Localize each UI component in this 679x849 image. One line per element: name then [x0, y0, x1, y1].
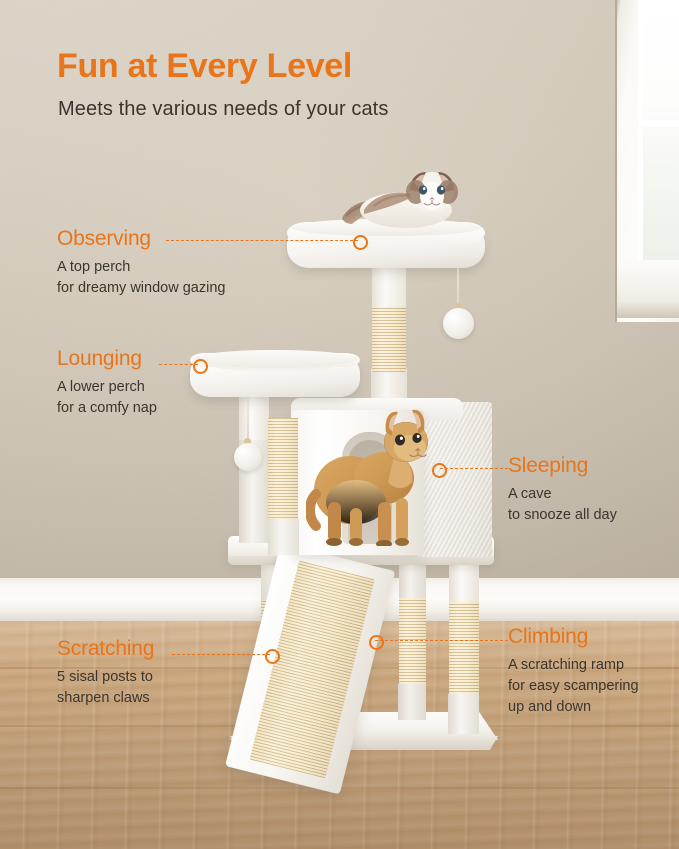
callout-sleeping-desc: A cave to snooze all day — [508, 484, 617, 526]
sisal-post-4-plush-bottom — [268, 519, 299, 555]
leader-line-climbing — [375, 640, 508, 641]
hanging-ball-toy-lower — [234, 443, 262, 471]
lounge-post-plush-top — [239, 396, 269, 440]
callout-scratching-title: Scratching — [57, 637, 154, 661]
callout-climbing-title: Climbing — [508, 625, 639, 649]
leader-dot-climbing — [369, 635, 384, 650]
top-post-plush-bottom — [371, 368, 407, 398]
cat-tree-product — [0, 0, 679, 849]
callout-observing: Observing A top perch for dreamy window … — [57, 227, 225, 299]
infographic-canvas: Fun at Every Level Meets the various nee… — [0, 0, 679, 849]
sisal-post-2-plush-bottom — [398, 684, 426, 720]
leader-dot-lounging — [193, 359, 208, 374]
sisal-post-2-plush-top — [399, 562, 426, 602]
leader-dot-sleeping — [432, 463, 447, 478]
leader-dot-scratching — [265, 649, 280, 664]
page-subtitle: Meets the various needs of your cats — [58, 98, 388, 121]
callout-scratching: Scratching 5 sisal posts to sharpen claw… — [57, 637, 154, 709]
callout-observing-desc: A top perch for dreamy window gazing — [57, 257, 225, 299]
top-post-plush-top — [372, 263, 406, 307]
callout-climbing-desc: A scratching ramp for easy scampering up… — [508, 655, 639, 718]
hanging-ball-toy-upper — [443, 308, 474, 339]
callout-sleeping-title: Sleeping — [508, 454, 617, 478]
sisal-post-3-plush-top — [449, 560, 479, 606]
leader-line-observing — [166, 240, 358, 241]
callout-climbing: Climbing A scratching ramp for easy scam… — [508, 625, 639, 718]
callout-lounging-title: Lounging — [57, 347, 157, 371]
callout-sleeping: Sleeping A cave to snooze all day — [508, 454, 617, 526]
cat-ragdoll-lying — [340, 166, 464, 232]
sisal-post-3-plush-bottom — [448, 694, 479, 734]
sisal-post-4-sisal — [268, 418, 298, 524]
leader-line-sleeping — [440, 468, 508, 469]
sisal-post-5-sisal — [372, 300, 406, 372]
callout-lounging-desc: A lower perch for a comfy nap — [57, 377, 157, 419]
callout-scratching-desc: 5 sisal posts to sharpen claws — [57, 667, 154, 709]
leader-line-scratching — [172, 654, 270, 655]
sisal-post-3-sisal — [449, 602, 479, 698]
leader-dot-observing — [353, 235, 368, 250]
cat-abyssinian-standing — [306, 398, 436, 546]
lounge-perch-rim — [193, 350, 357, 368]
sisal-post-2-sisal — [399, 598, 426, 688]
page-title: Fun at Every Level — [57, 47, 352, 86]
callout-observing-title: Observing — [57, 227, 225, 251]
callout-lounging: Lounging A lower perch for a comfy nap — [57, 347, 157, 419]
